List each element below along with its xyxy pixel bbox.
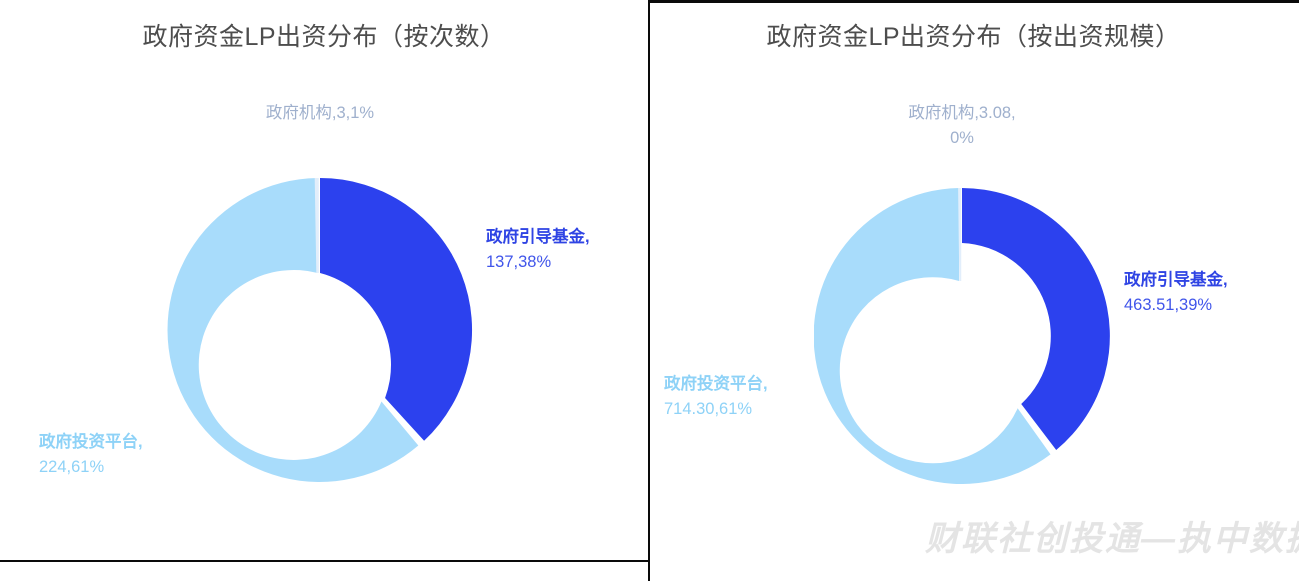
- donut-svg-by-scale: [814, 188, 1110, 484]
- slice-label-line1: 政府投资平台,: [664, 372, 839, 397]
- chart-panel-by-count: 政府资金LP出资分布（按次数） 政府机构,3,1% 政府引导基金, 137,38…: [0, 0, 648, 581]
- slice-label-line1: 政府引导基金,: [486, 225, 636, 250]
- slice-label-government-agency-by-count: 政府机构,3,1%: [183, 101, 457, 126]
- slice-label-line1: 政府机构,3,1%: [183, 101, 457, 126]
- slice-label-guidance-fund-by-count: 政府引导基金, 137,38%: [486, 225, 636, 275]
- slice-label-line1: 政府机构,3.08,: [825, 101, 1099, 126]
- panel-left-border: [648, 0, 650, 581]
- dual-donut-chart-board: 政府资金LP出资分布（按次数） 政府机构,3,1% 政府引导基金, 137,38…: [0, 0, 1299, 581]
- donut-slice-guidance-fund[interactable]: [320, 178, 472, 441]
- slice-label-investment-platform-by-count: 政府投资平台, 224,61%: [39, 430, 189, 480]
- page-title-by-count: 政府资金LP出资分布（按次数）: [0, 20, 648, 54]
- donut-chart-by-scale: [814, 188, 1110, 484]
- panel-bottom-border: [0, 560, 648, 562]
- donut-chart-by-count: [160, 170, 480, 490]
- watermark-text: 财联社创投通—执中数据: [925, 511, 1299, 560]
- chart-panel-by-scale: 政府资金LP出资分布（按出资规模） 政府机构,3.08, 0% 政府引导基金, …: [648, 0, 1299, 581]
- slice-label-line2: 224,61%: [39, 455, 189, 480]
- panel-top-border: [648, 0, 1299, 3]
- slice-label-line2: 463.51,39%: [1124, 293, 1299, 318]
- slice-label-line1: 政府投资平台,: [39, 430, 189, 455]
- donut-svg-by-count: [160, 170, 480, 490]
- page-title-by-scale: 政府资金LP出资分布（按出资规模）: [648, 20, 1299, 54]
- slice-label-line2: 137,38%: [486, 250, 636, 275]
- slice-label-investment-platform-by-scale: 政府投资平台, 714.30,61%: [664, 372, 839, 422]
- donut-slice-guidance-fund[interactable]: [962, 188, 1110, 450]
- slice-label-line1: 政府引导基金,: [1124, 268, 1299, 293]
- slice-label-line2: 714.30,61%: [664, 397, 839, 422]
- slice-label-line2: 0%: [825, 126, 1099, 151]
- slice-label-guidance-fund-by-scale: 政府引导基金, 463.51,39%: [1124, 268, 1299, 318]
- slice-label-government-agency-by-scale: 政府机构,3.08, 0%: [825, 101, 1099, 151]
